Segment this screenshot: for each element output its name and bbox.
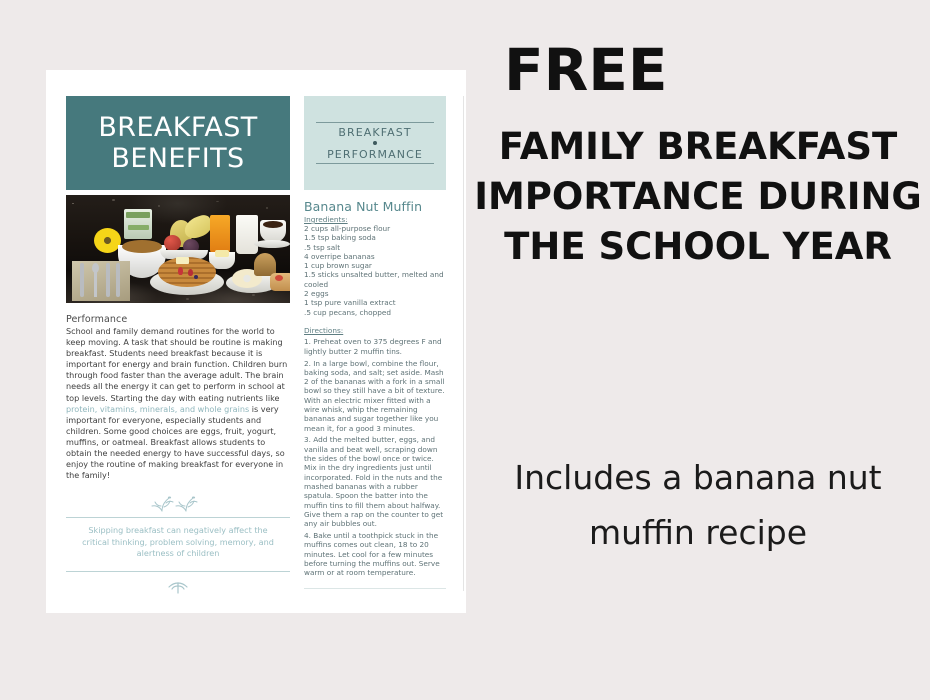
sidebox-line-breakfast: BREAKFAST <box>316 123 434 141</box>
list-item: 2. In a large bowl, combine the flour, b… <box>304 359 446 433</box>
quote-rule-bottom <box>66 571 290 572</box>
nutrients-highlight: protein, vitamins, minerals, and whole g… <box>66 404 249 414</box>
list-item: 1 cup brown sugar <box>304 261 446 270</box>
quote-block: Skipping breakfast can negatively affect… <box>66 495 290 594</box>
list-item: 1 tsp pure vanilla extract <box>304 298 446 307</box>
masthead-title: BREAKFAST BENEFITS <box>66 112 290 174</box>
list-item: 1.5 tsp baking soda <box>304 233 446 242</box>
list-item: .5 tsp salt <box>304 243 446 252</box>
flyer-left-column: BREAKFAST BENEFITS <box>66 96 290 595</box>
list-item: .5 cup pecans, chopped <box>304 308 446 317</box>
promo-headline: FAMILY BREAKFAST IMPORTANCE DURING THE S… <box>466 122 930 272</box>
recipe-bottom-rule <box>304 588 446 589</box>
promo-free-label: FREE <box>504 36 668 104</box>
breakfast-performance-box: BREAKFAST PERFORMANCE <box>304 96 446 190</box>
body-part-2: is very important for everyone, especial… <box>66 404 285 481</box>
list-item: 1. Preheat oven to 375 degrees F and lig… <box>304 337 446 356</box>
list-item: 3. Add the melted butter, eggs, and vani… <box>304 435 446 528</box>
flyer-content-area: BREAKFAST BENEFITS <box>66 96 446 591</box>
floral-ornament-bottom-icon <box>158 577 198 595</box>
flyer-page: BREAKFAST BENEFITS <box>46 70 466 613</box>
floral-ornament-top-icon <box>148 495 208 513</box>
list-item: 2 cups all-purpose flour <box>304 224 446 233</box>
column-divider-rule <box>463 96 464 591</box>
promo-subtext: Includes a banana nut muffin recipe <box>466 450 930 560</box>
masthead-banner: BREAKFAST BENEFITS <box>66 96 290 190</box>
sidebox-line-performance: PERFORMANCE <box>316 145 434 163</box>
flyer-right-column: BREAKFAST PERFORMANCE Banana Nut Muffin … <box>304 96 446 589</box>
quote-text: Skipping breakfast can negatively affect… <box>66 518 290 566</box>
list-item: 4. Bake until a toothpick stuck in the m… <box>304 531 446 577</box>
directions-list: 1. Preheat oven to 375 degrees F and lig… <box>304 337 446 577</box>
promo-panel: FREE FAMILY BREAKFAST IMPORTANCE DURING … <box>466 0 930 700</box>
sidebox-rule-bottom <box>316 163 434 164</box>
list-item: 4 overripe bananas <box>304 252 446 261</box>
recipe-title: Banana Nut Muffin <box>304 199 446 214</box>
performance-heading: Performance <box>66 314 290 325</box>
directions-label: Directions: <box>304 326 446 335</box>
ingredients-list: 2 cups all-purpose flour 1.5 tsp baking … <box>304 224 446 317</box>
breakfast-spread-photo <box>66 195 290 303</box>
list-item: 2 eggs <box>304 289 446 298</box>
ingredients-label: Ingredients: <box>304 215 446 224</box>
performance-body-text: School and family demand routines for th… <box>66 326 290 481</box>
body-part-1: School and family demand routines for th… <box>66 326 287 403</box>
list-item: 1.5 sticks unsalted butter, melted and c… <box>304 270 446 289</box>
